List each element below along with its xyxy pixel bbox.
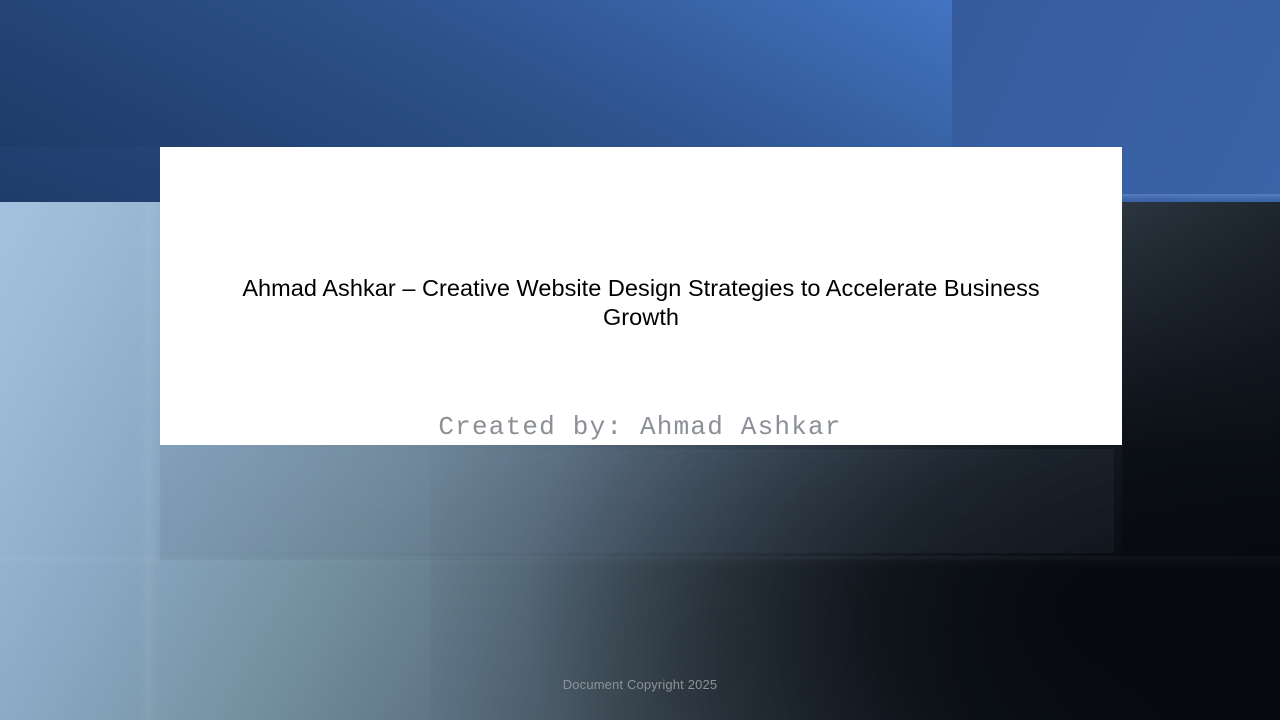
card-shadow-panel-inner <box>168 449 1114 553</box>
document-title: Ahmad Ashkar – Creative Website Design S… <box>220 274 1062 332</box>
banner-block-left <box>0 0 952 147</box>
footer-copyright: Document Copyright 2025 <box>0 676 1280 694</box>
title-slide: Ahmad Ashkar – Creative Website Design S… <box>0 0 1280 720</box>
title-card: Ahmad Ashkar – Creative Website Design S… <box>160 147 1122 445</box>
banner-block-left-lower <box>0 147 160 202</box>
background-seam-left <box>139 200 157 720</box>
